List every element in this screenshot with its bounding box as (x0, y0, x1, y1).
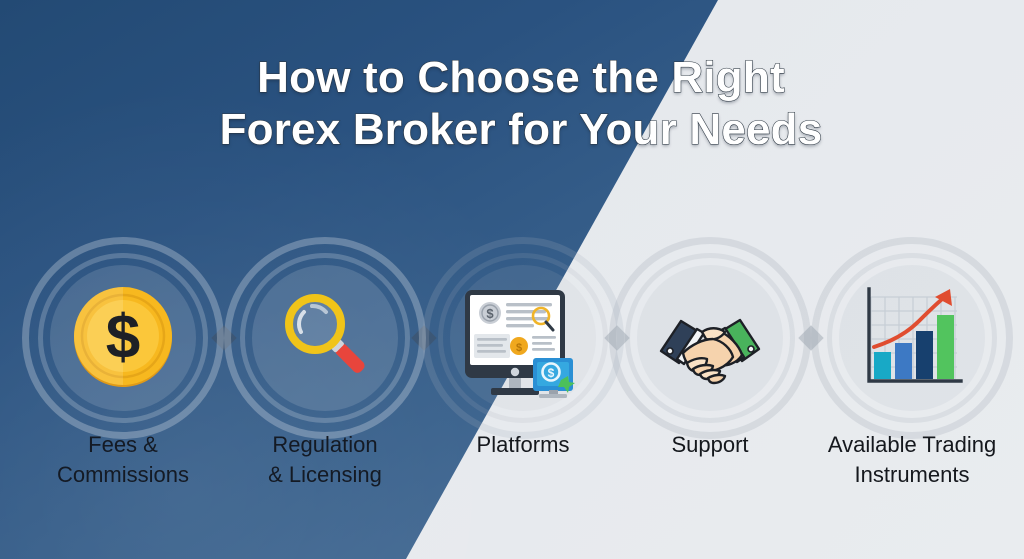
svg-text:$: $ (516, 342, 522, 354)
steps-row: $ (0, 243, 1024, 443)
label-line-2: Instruments (792, 460, 1024, 490)
page-title: How to Choose the Right Forex Broker for… (0, 52, 1024, 156)
bar-3 (916, 331, 933, 379)
step-platforms[interactable]: $ (428, 243, 618, 433)
infographic-canvas: How to Choose the Right Forex Broker for… (0, 0, 1024, 559)
bar-4 (937, 315, 954, 379)
label-available-trading-instruments: Available Trading Instruments (792, 430, 1024, 490)
label-line-2: & Licensing (205, 460, 445, 490)
svg-text:$: $ (106, 303, 140, 372)
bar-chart-growth-icon (849, 275, 975, 401)
step-available-trading-instruments[interactable] (817, 243, 1007, 433)
bar-2 (895, 343, 912, 379)
handshake-icon (647, 275, 773, 401)
step-regulation-licensing[interactable] (230, 243, 420, 433)
step-support[interactable] (615, 243, 805, 433)
bar-1 (874, 352, 891, 379)
gold-coin-dollar-icon: $ (63, 278, 183, 398)
label-line-1: Available Trading (792, 430, 1024, 460)
svg-text:$: $ (548, 366, 555, 380)
title-line-1: How to Choose the Right (18, 52, 1024, 104)
svg-text:$: $ (486, 306, 494, 321)
desktop-monitor-trading-icon: $ (457, 272, 589, 404)
magnifying-glass-icon (265, 278, 385, 398)
title-line-2: Forex Broker for Your Needs (18, 104, 1024, 156)
step-fees-commissions[interactable]: $ (28, 243, 218, 433)
